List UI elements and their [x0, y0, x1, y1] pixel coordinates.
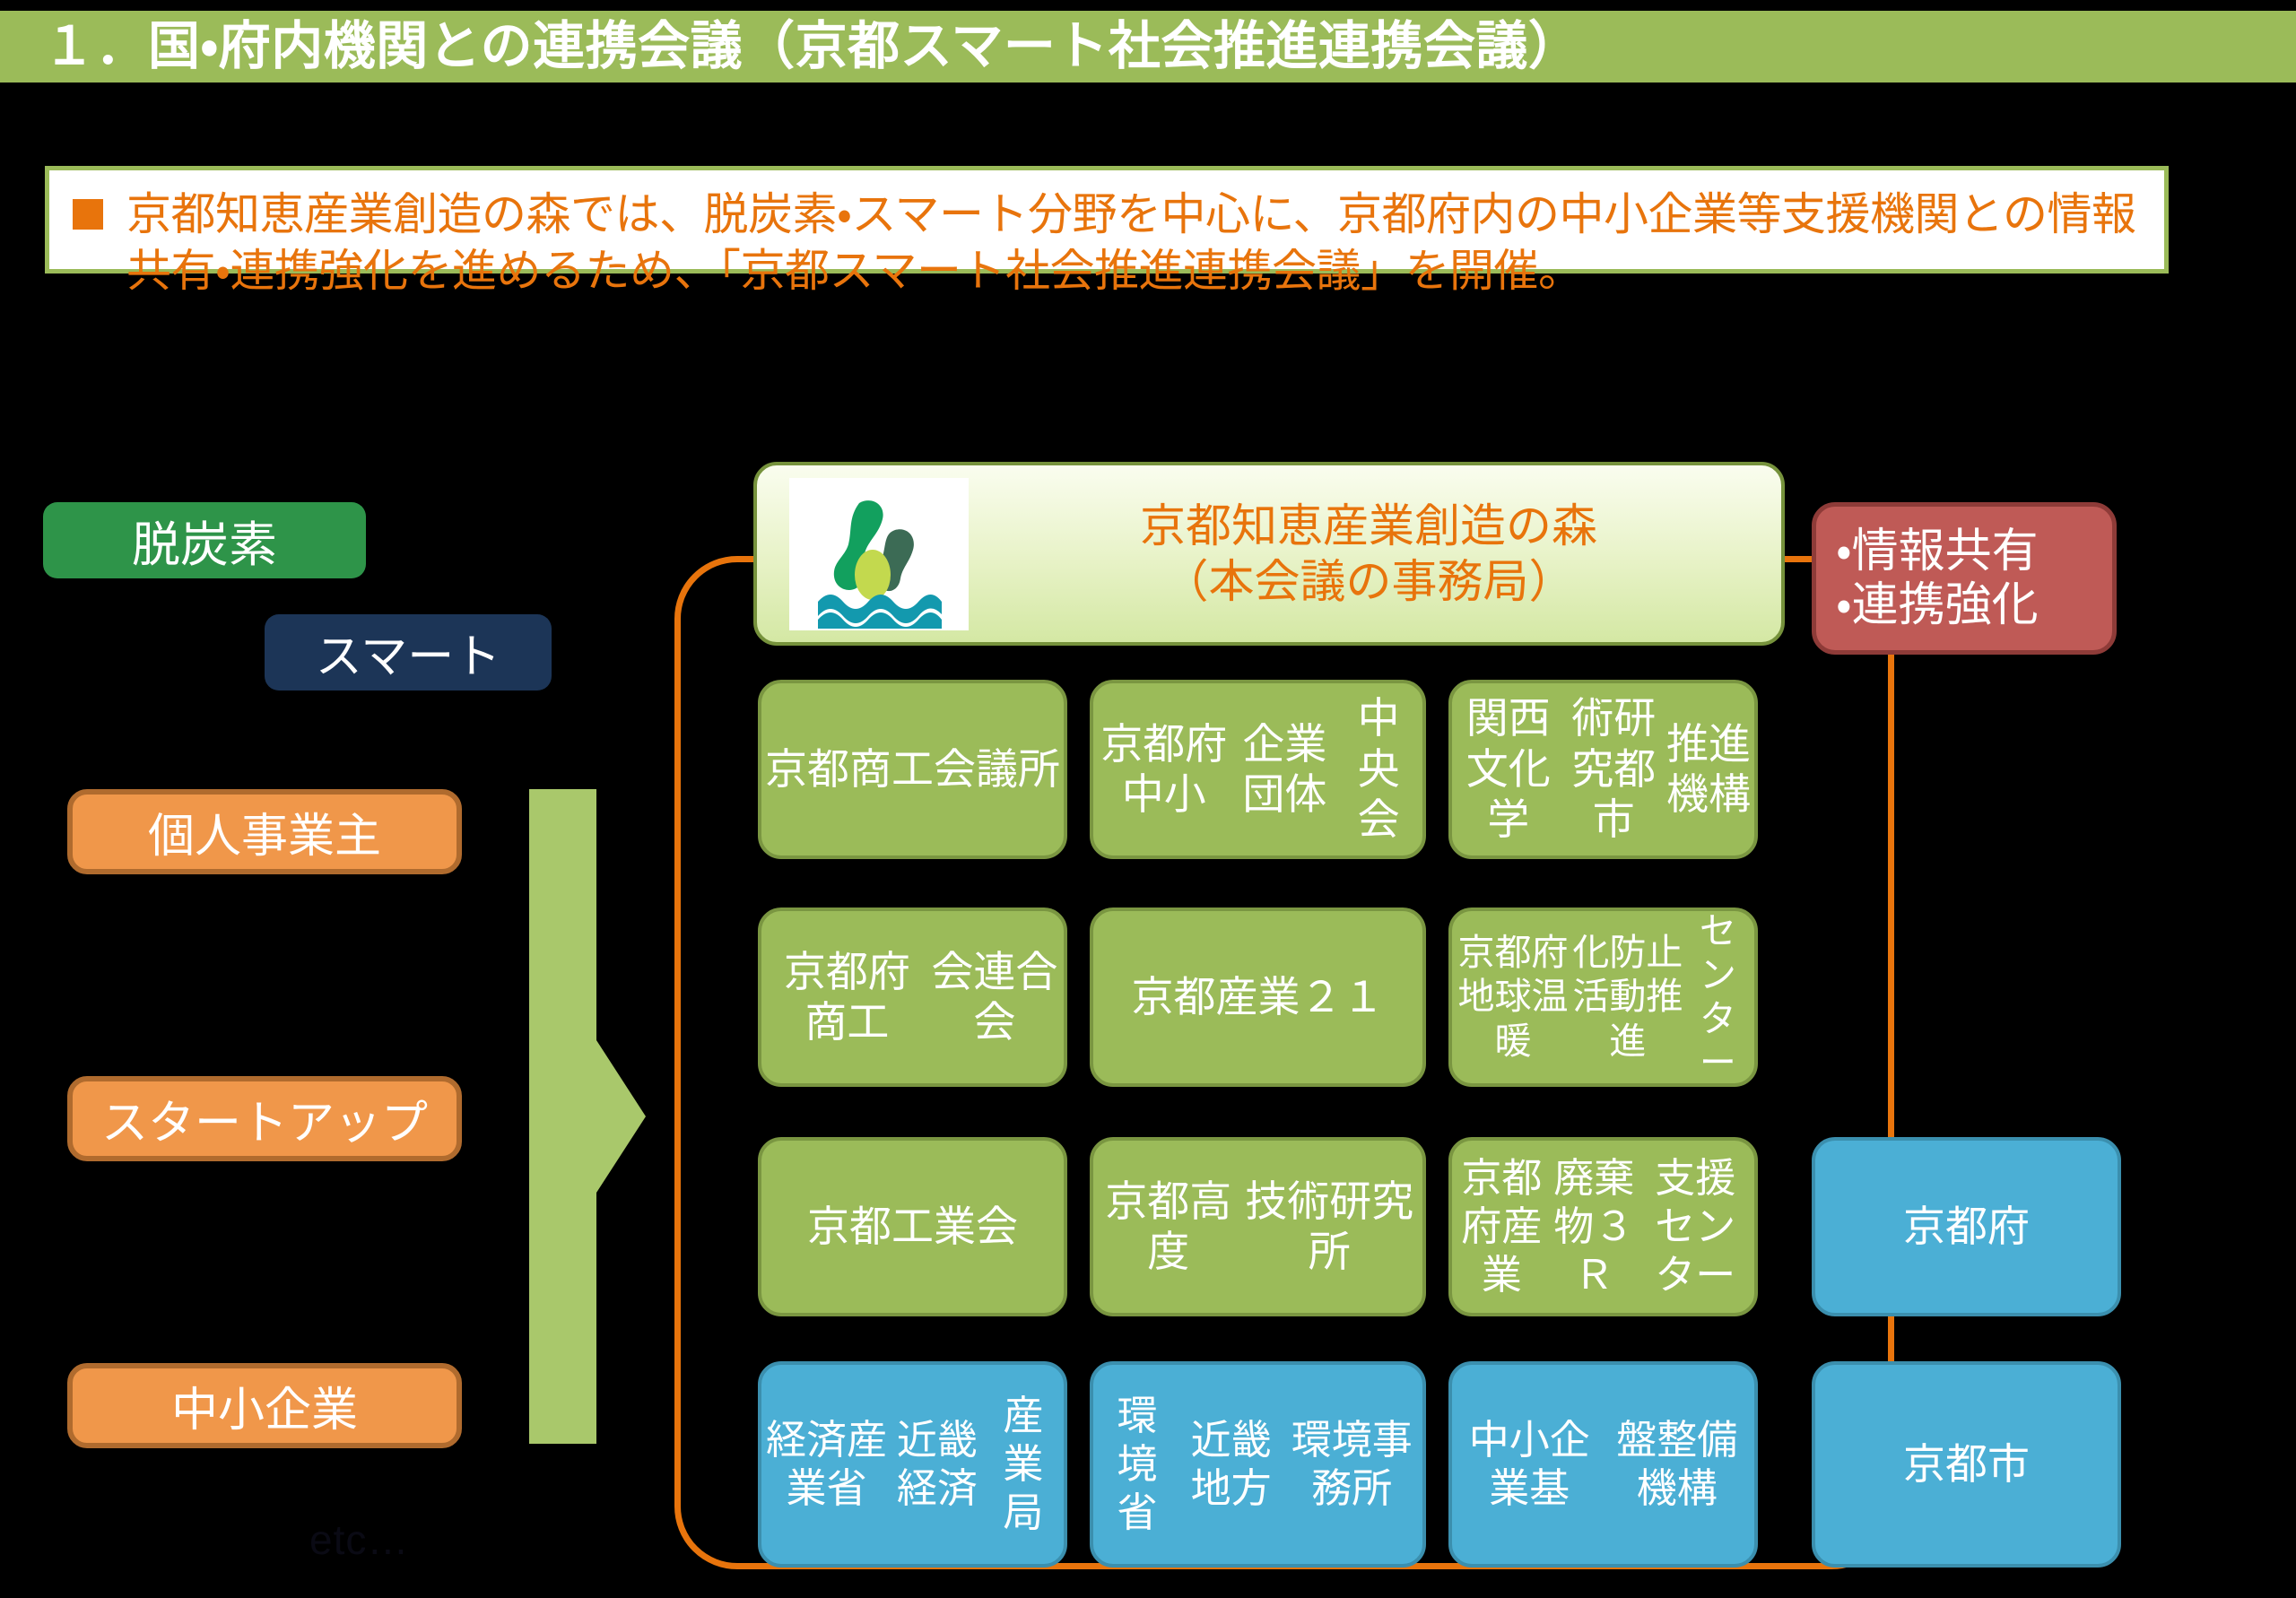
org-card: 京都市: [1812, 1361, 2121, 1568]
secretariat-header-box: 京都知恵産業創造の森 （本会議の事務局）: [753, 462, 1785, 646]
secretariat-title: 京都知恵産業創造の森 （本会議の事務局）: [992, 499, 1781, 608]
org-card: 京都府: [1812, 1137, 2121, 1316]
bullet-square-icon: [73, 199, 103, 230]
secretariat-title-line2: （本会議の事務局）: [992, 554, 1745, 609]
org-card: 環境省近畿地方環境事務所: [1090, 1361, 1426, 1568]
keyword-pill-decarbonization: 脱炭素: [43, 502, 366, 578]
org-card: 関西文化学術研究都市推進機構: [1448, 680, 1758, 859]
org-card: 中小企業基盤整備機構: [1448, 1361, 1758, 1568]
keyword-pill-smart: スマート: [265, 614, 552, 690]
intro-paragraph: 京都知恵産業創造の森では、脱炭素・スマート分野を中心に、京都府内の中小企業等支援…: [126, 187, 2141, 300]
keyword-pill-sme: 中小企業: [67, 1363, 462, 1448]
etcetera-label: etc…: [309, 1515, 409, 1564]
secretariat-title-line1: 京都知恵産業創造の森: [992, 499, 1745, 553]
keyword-label: 脱炭素: [132, 505, 277, 576]
kyoto-chie-sangyo-forest-logo-icon: [789, 478, 969, 630]
page-title: １．国・府内機関との連携会議（京都スマート社会推進連携会議）: [0, 21, 1580, 73]
flow-arrow-icon: [529, 789, 646, 1444]
org-card: 経済産業省近畿経済産業局: [758, 1361, 1067, 1568]
keyword-label: 中小企業: [171, 1372, 358, 1439]
info-box-line2: ・連携強化: [1836, 578, 2039, 632]
intro-callout-box: 京都知恵産業創造の森では、脱炭素・スマート分野を中心に、京都府内の中小企業等支援…: [45, 166, 2169, 274]
keyword-label: スマート: [316, 619, 500, 686]
keyword-pill-sole-proprietor: 個人事業主: [67, 789, 462, 874]
slide-title-banner: １．国・府内機関との連携会議（京都スマート社会推進連携会議）: [0, 11, 2296, 83]
org-card: 京都工業会: [758, 1137, 1067, 1316]
org-card: 京都商工会議所: [758, 680, 1067, 859]
keyword-label: スタートアップ: [101, 1085, 428, 1152]
info-box-line1: ・情報共有: [1836, 525, 2039, 578]
keyword-pill-startup: スタートアップ: [67, 1076, 462, 1161]
org-card: 京都府産業廃棄物３Ｒ支援センター: [1448, 1137, 1758, 1316]
org-card: 京都府地球温暖化防止活動推進センター: [1448, 908, 1758, 1087]
org-card: 京都府商工会連合会: [758, 908, 1067, 1087]
info-sharing-collaboration-box: ・情報共有 ・連携強化: [1812, 502, 2117, 655]
org-card: 京都府中小企業団体中央会: [1090, 680, 1426, 859]
org-card: 京都産業２１: [1090, 908, 1426, 1087]
keyword-label: 個人事業主: [148, 798, 381, 865]
org-card: 京都高度技術研究所: [1090, 1137, 1426, 1316]
